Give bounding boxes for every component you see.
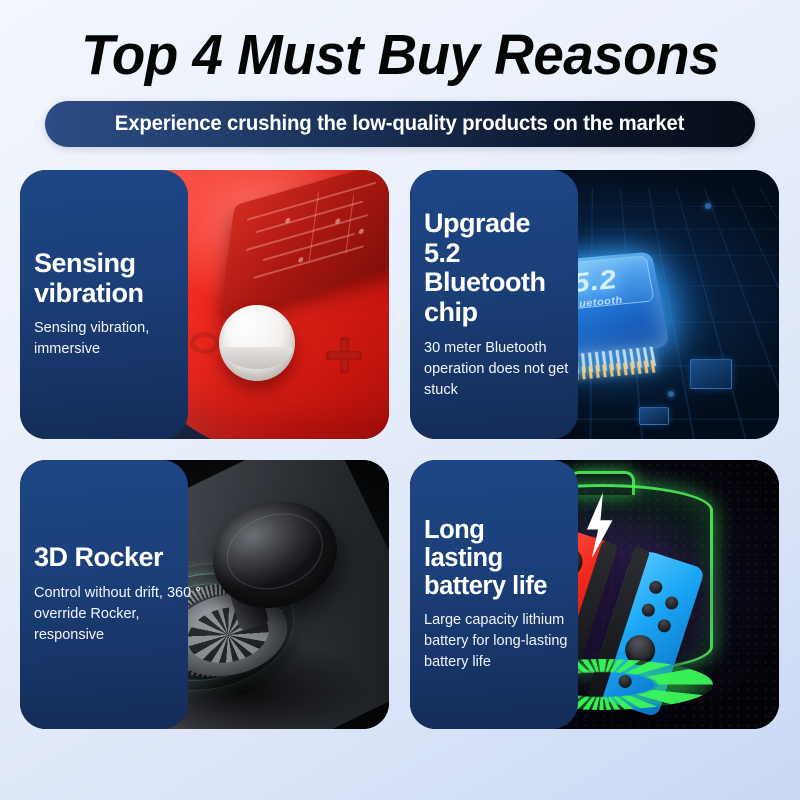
card-body-text: 30 meter Bluetooth operation does not ge… bbox=[424, 338, 600, 401]
card-heading: 3D Rocker bbox=[34, 543, 174, 573]
cross-brace-shape bbox=[326, 337, 362, 373]
page-header: Top 4 Must Buy Reasons Experience crushi… bbox=[0, 0, 800, 147]
card-info-panel: Long lasting battery life Large capacity… bbox=[410, 460, 578, 729]
card-heading: Upgrade 5.2 Bluetooth chip bbox=[424, 209, 564, 328]
card-info-panel: Upgrade 5.2 Bluetooth chip 30 meter Blue… bbox=[410, 170, 578, 439]
vibration-motor-shape bbox=[219, 305, 295, 381]
page-title: Top 4 Must Buy Reasons bbox=[35, 26, 765, 85]
card-heading: Sensing vibration bbox=[34, 249, 174, 308]
card-info-panel: 3D Rocker Control without drift, 360 ° o… bbox=[20, 460, 188, 729]
feature-card-3d-rocker[interactable]: 3D Rocker Control without drift, 360 ° o… bbox=[20, 460, 389, 729]
card-body-text: Large capacity lithium battery for long-… bbox=[424, 610, 600, 673]
feature-card-sensing-vibration[interactable]: Sensing vibration Sensing vibration, imm… bbox=[20, 170, 389, 439]
card-body-text: Control without drift, 360 ° override Ro… bbox=[34, 583, 210, 646]
feature-cards-grid: Sensing vibration Sensing vibration, imm… bbox=[20, 170, 780, 729]
feature-card-battery-life[interactable]: Long lasting battery life Large capacity… bbox=[410, 460, 779, 729]
card-heading: Long lasting battery life bbox=[424, 516, 564, 600]
subtitle-text: Experience crushing the low-quality prod… bbox=[115, 112, 684, 136]
card-body-text: Sensing vibration, immersive bbox=[34, 318, 210, 360]
subtitle-banner: Experience crushing the low-quality prod… bbox=[45, 101, 755, 147]
card-info-panel: Sensing vibration Sensing vibration, imm… bbox=[20, 170, 188, 439]
feature-card-bluetooth-chip[interactable]: 5.2 Bluetooth Upgrade 5.2 Bluetooth chip… bbox=[410, 170, 779, 439]
